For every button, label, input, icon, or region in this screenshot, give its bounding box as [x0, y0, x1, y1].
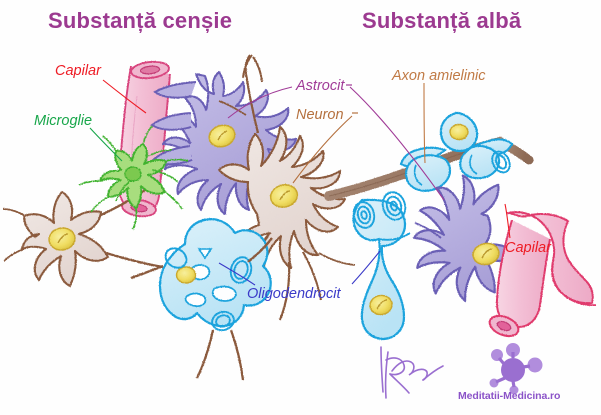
- label-axon-amielinic: Axon amielinic: [392, 68, 486, 84]
- label-capilar-right: Capilar: [505, 240, 551, 256]
- leader-microglie: [90, 128, 122, 161]
- white-matter-drawing: [329, 113, 596, 340]
- label-astrocit: Astrocit: [296, 78, 344, 94]
- label-microglie: Microglie: [34, 113, 92, 129]
- panel-title-gray-matter: Substanță cenșie: [48, 8, 232, 34]
- oligodendrocyte-right-top-shape: [401, 113, 513, 191]
- gray-matter-drawing: [3, 55, 355, 380]
- figure-canvas: Hand-drawn biology diagram comparing gra…: [0, 0, 601, 415]
- oligodendrocyte-right-bottom-shape: [351, 190, 410, 339]
- label-capilar-left: Capilar: [55, 63, 101, 79]
- leader-axon: [424, 83, 425, 163]
- capillary-right-shape: [487, 212, 596, 340]
- site-watermark-text: Meditatii-Medicina.ro: [458, 390, 560, 402]
- panel-title-white-matter: Substanță albă: [362, 8, 521, 34]
- site-logo: [490, 343, 543, 395]
- signature-mark: [381, 347, 443, 398]
- label-neuron: Neuron: [296, 107, 344, 123]
- label-oligodendrocit: Oligodendrocit: [247, 286, 341, 302]
